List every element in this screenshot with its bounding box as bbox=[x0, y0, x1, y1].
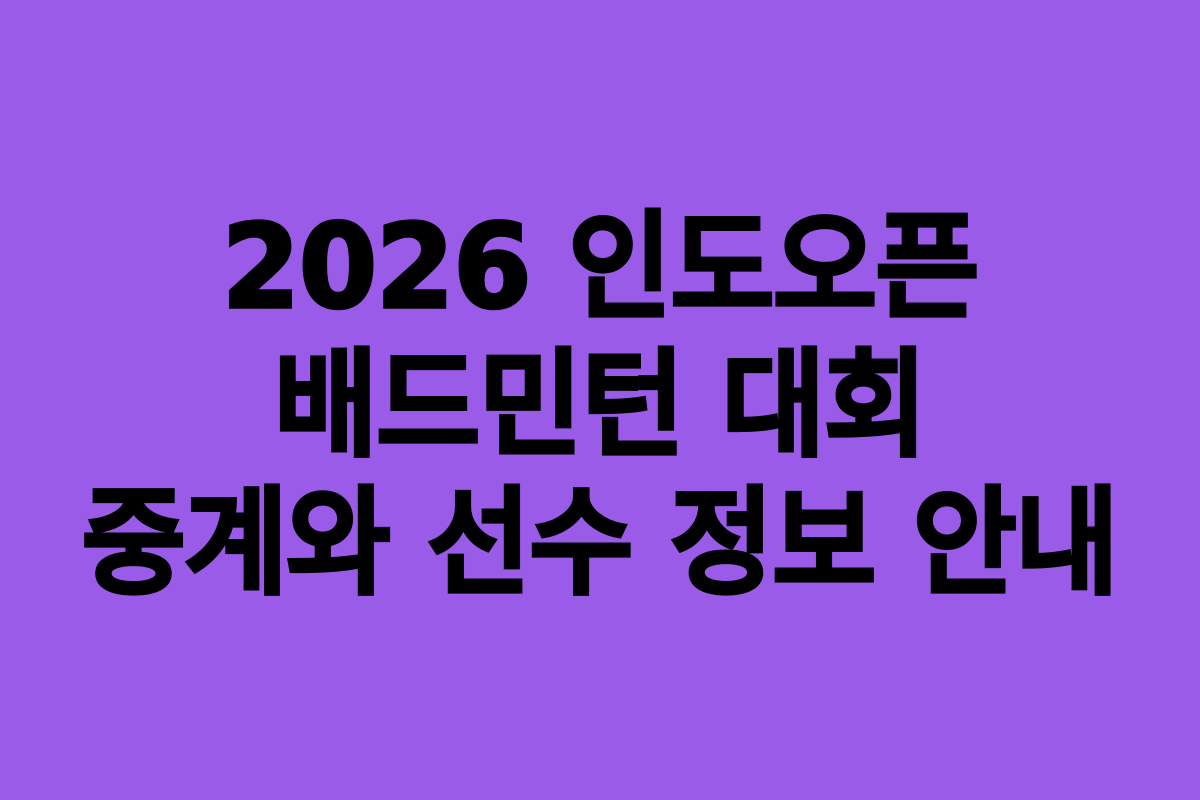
title-line-2: 배드민턴 대회 bbox=[274, 337, 926, 475]
title-line-1: 2026 인도오픈 bbox=[222, 199, 978, 337]
title-line-3: 중계와 선수 정보 안내 bbox=[82, 475, 1118, 613]
page-title: 2026 인도오픈 배드민턴 대회 중계와 선수 정보 안내 bbox=[0, 199, 1200, 613]
thumbnail-card: 2026 인도오픈 배드민턴 대회 중계와 선수 정보 안내 bbox=[0, 0, 1200, 800]
